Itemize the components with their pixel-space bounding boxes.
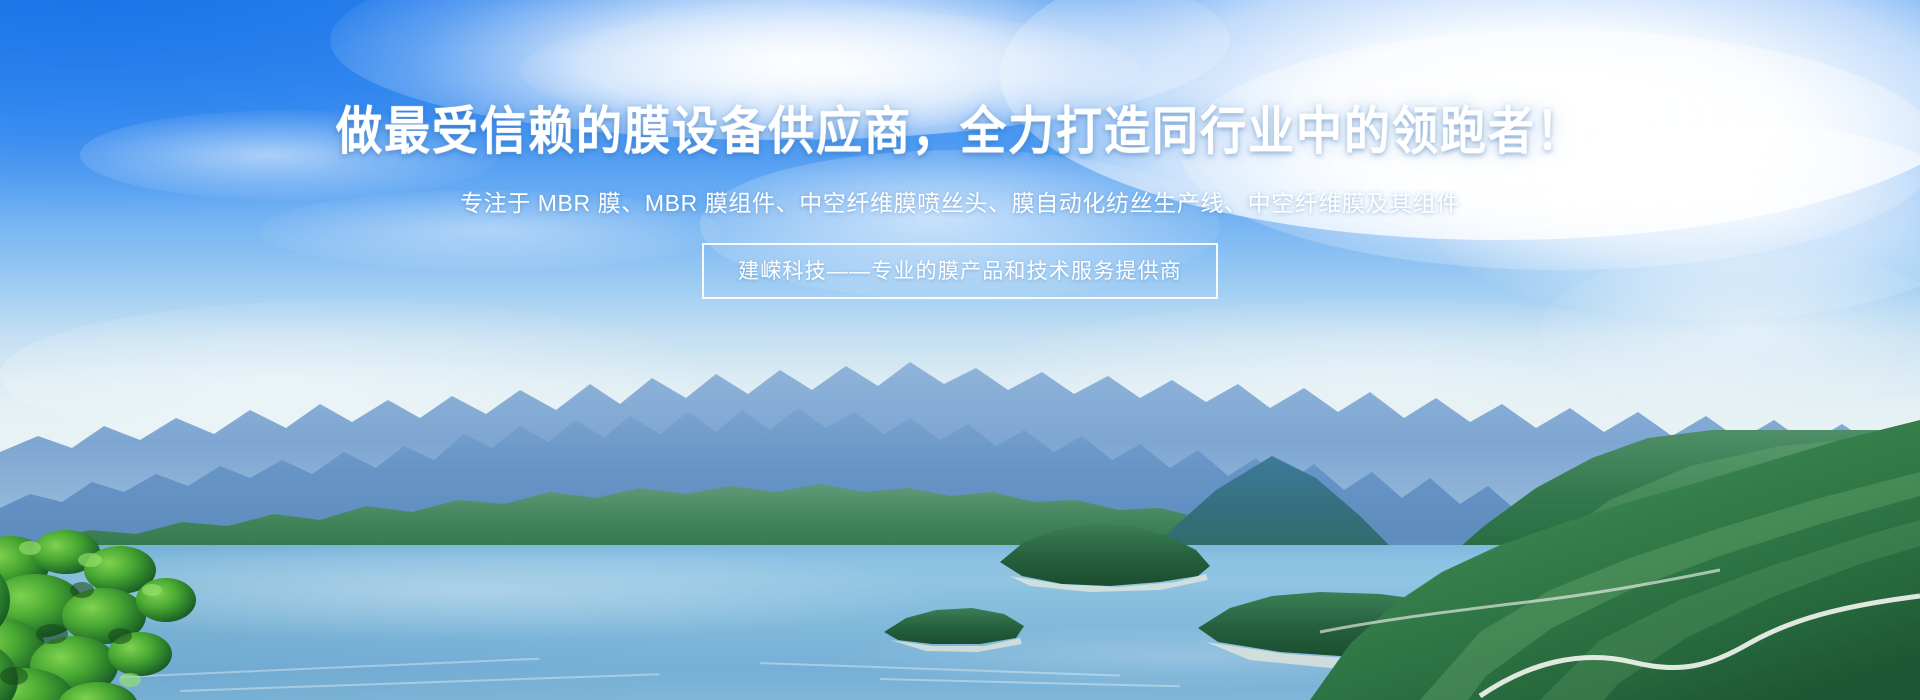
cloud-icon	[520, 10, 1140, 130]
cloud-icon	[80, 110, 500, 200]
tagline-box[interactable]: 建嵘科技——专业的膜产品和技术服务提供商	[702, 243, 1218, 299]
cloud-icon	[260, 190, 720, 270]
hero-banner: 做最受信赖的膜设备供应商，全力打造同行业中的领跑者！ 专注于 MBR 膜、MBR…	[0, 0, 1920, 700]
foreground-tree-foliage	[0, 530, 300, 700]
banner-tagline: 建嵘科技——专业的膜产品和技术服务提供商	[738, 255, 1182, 285]
foreground-forest-mountain	[1180, 400, 1920, 700]
